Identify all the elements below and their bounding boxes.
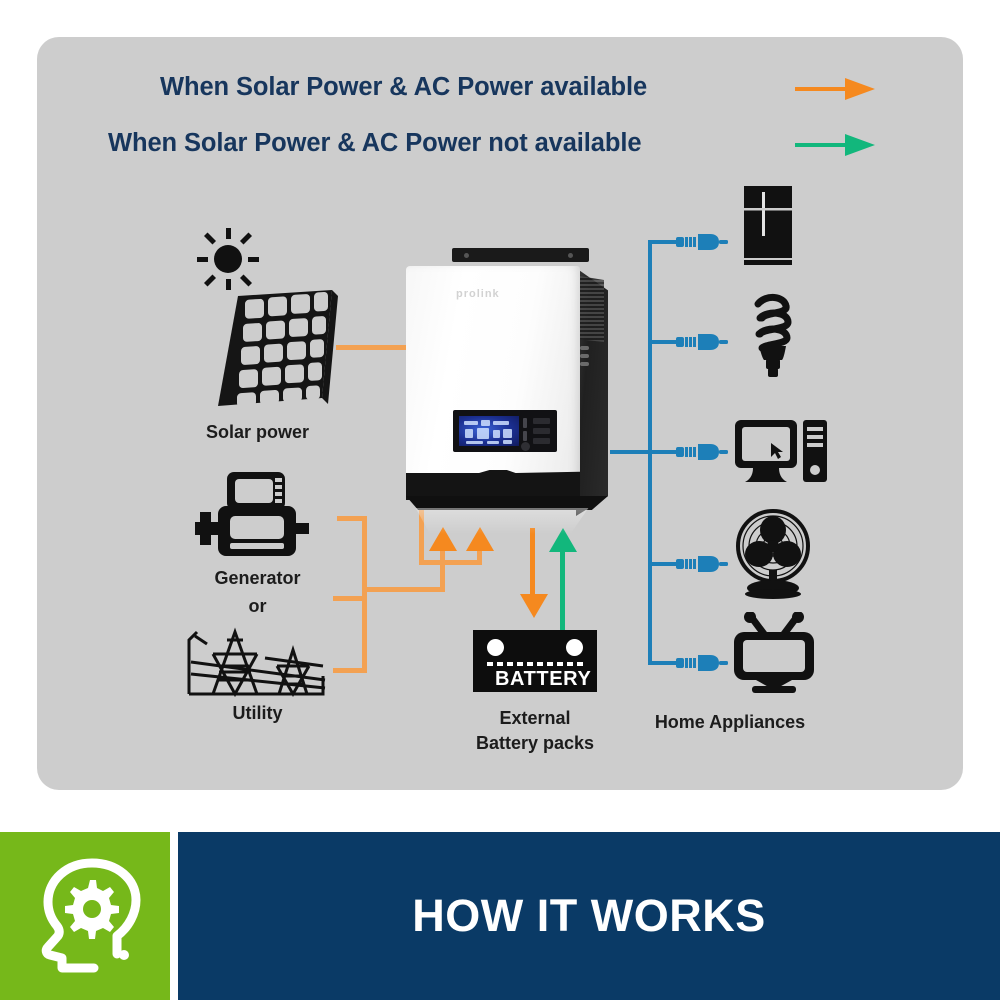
legend-label-1: When Solar Power & AC Power available [160,73,647,102]
battery-face-text: BATTERY [495,668,591,691]
wire-generator-vertical [362,516,367,592]
inverter-device: prolink [398,248,618,528]
wire-generator-to-inverter [362,587,445,592]
generator-icon [190,472,315,562]
utility-tower-icon [183,618,333,700]
computer-icon [735,418,827,486]
legend-item-solar-ac-available: When Solar Power & AC Power available [160,73,647,102]
wire-inverter-to-battery [530,528,535,598]
banner-icon-block [0,832,170,1000]
refrigerator-icon [740,186,796,266]
inverter-brand-logo: prolink [456,288,500,300]
sun-icon [197,228,259,290]
infographic-root: When Solar Power & AC Power available Wh… [0,0,1000,1000]
wire-generator-riser [440,545,445,592]
cfl-bulb-icon [740,288,802,384]
plug-icon-computer [676,438,728,466]
label-external-battery-line2: Battery packs [435,733,635,755]
plug-icon-refrigerator [676,228,728,256]
legend-label-2: When Solar Power & AC Power not availabl… [108,129,641,158]
label-external-battery-line1: External [435,708,635,730]
wire-inverter-output [610,450,652,454]
plug-icon-tv [676,649,728,677]
inverter-lcd-panel [453,410,557,452]
wire-battery-to-inverter [560,550,565,630]
external-battery-icon: BATTERY [473,630,597,692]
head-gear-icon [32,858,144,976]
banner-title: HOW IT WORKS [178,832,1000,1000]
television-icon [730,612,818,694]
label-home-appliances: Home Appliances [630,712,830,734]
wire-utility-branch [333,596,367,601]
arrow-charge-battery [520,594,548,618]
table-fan-icon [733,508,813,600]
solar-panel-icon [210,286,340,414]
label-solar-power: Solar power [150,422,365,444]
plug-icon-bulb [676,328,728,356]
plug-icon-fan [676,550,728,578]
legend-arrow-green [795,134,875,156]
label-utility: Utility [150,703,365,725]
legend-arrow-orange [795,78,875,100]
wire-solar-to-inverter [419,560,482,565]
wire-utility-vertical [362,592,367,673]
legend-item-solar-ac-not-available: When Solar Power & AC Power not availabl… [108,129,641,158]
label-generator: Generator [150,568,365,590]
